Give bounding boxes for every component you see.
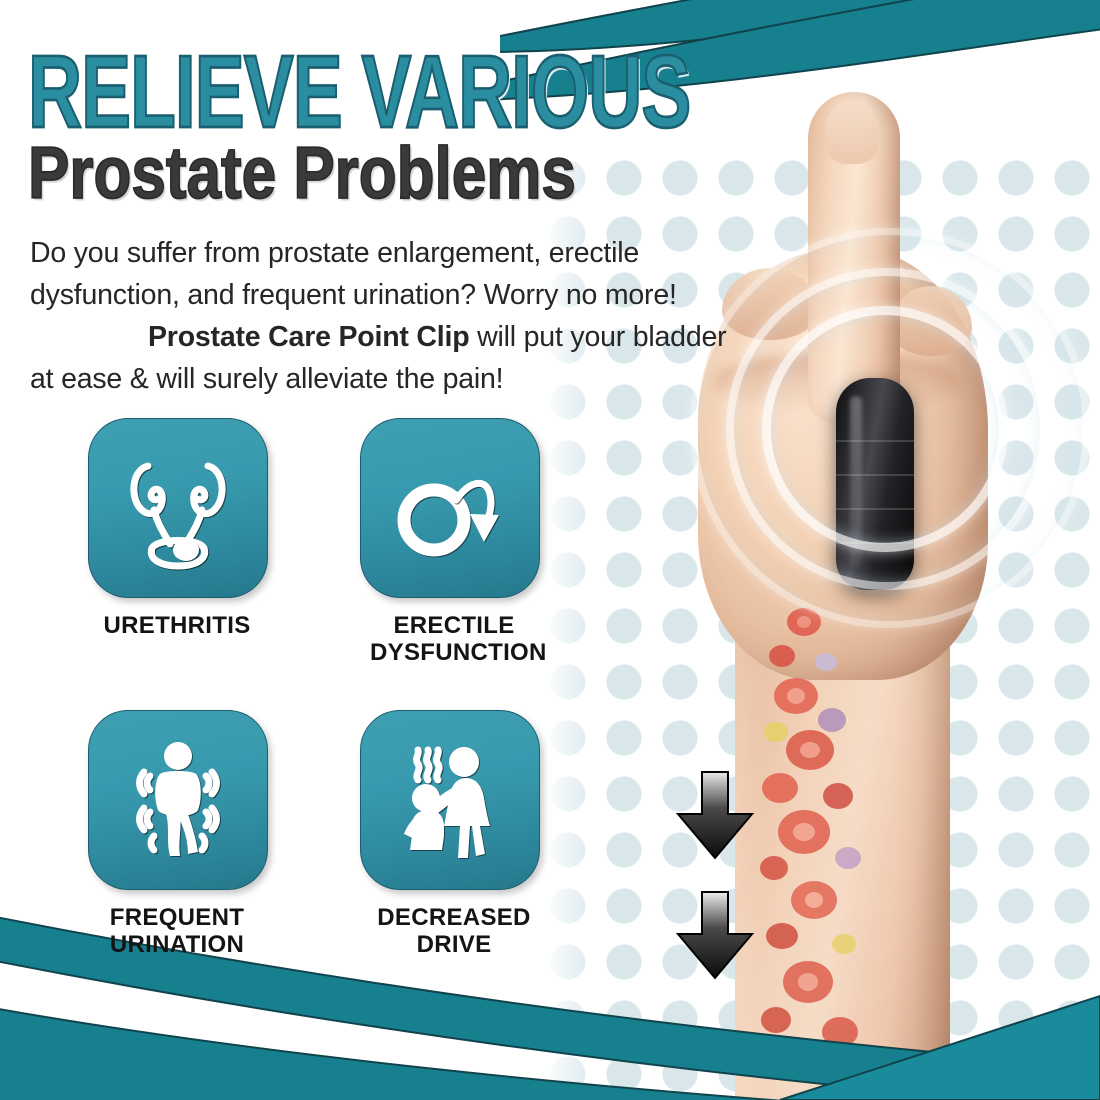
- person-crossing-legs-icon: [114, 736, 242, 864]
- male-symbol-drooping-arrow-icon: [386, 444, 514, 572]
- symptom-card-decreased-drive[interactable]: DECREASED DRIVE: [360, 710, 538, 958]
- brand-name: Prostate Care Point Clip: [148, 321, 469, 353]
- down-arrow-top: [672, 770, 758, 860]
- knuckle: [890, 286, 972, 356]
- body-line-4: at ease & will surely alleviate the pain…: [30, 363, 503, 395]
- page-subtitle: Prostate Problems: [28, 138, 576, 211]
- symptom-card-urethritis[interactable]: URETHRITIS: [88, 418, 266, 639]
- tile: [360, 418, 540, 598]
- product-poster: RELIEVE VARIOUS Prostate Problems Do you…: [0, 0, 1100, 1100]
- symptom-label: ERECTILE DYSFUNCTION: [370, 612, 538, 666]
- symptom-card-frequent-urination[interactable]: FREQUENT URINATION: [88, 710, 266, 958]
- prostate-care-point-clip-product: [836, 378, 914, 590]
- down-arrow-bottom: [672, 890, 758, 980]
- symptom-label: DECREASED DRIVE: [370, 904, 538, 958]
- body-line-1: Do you suffer from prostate enlargement,…: [30, 237, 639, 269]
- body-line-3: will put your bladder: [469, 321, 726, 353]
- couple-low-libido-icon: [386, 736, 514, 864]
- tile: [88, 710, 268, 890]
- symptom-label: URETHRITIS: [88, 612, 266, 639]
- body-copy: Do you suffer from prostate enlargement,…: [30, 232, 750, 400]
- kidneys-bladder-icon: [114, 444, 242, 572]
- page-title: RELIEVE VARIOUS: [28, 40, 690, 143]
- symptom-label: FREQUENT URINATION: [88, 904, 266, 958]
- body-line-2: dysfunction, and frequent urination? Wor…: [30, 279, 677, 311]
- tile: [88, 418, 268, 598]
- symptom-card-erectile-dysfunction[interactable]: ERECTILE DYSFUNCTION: [360, 418, 538, 666]
- corner-band-decoration: [770, 950, 1100, 1100]
- tile: [360, 710, 540, 890]
